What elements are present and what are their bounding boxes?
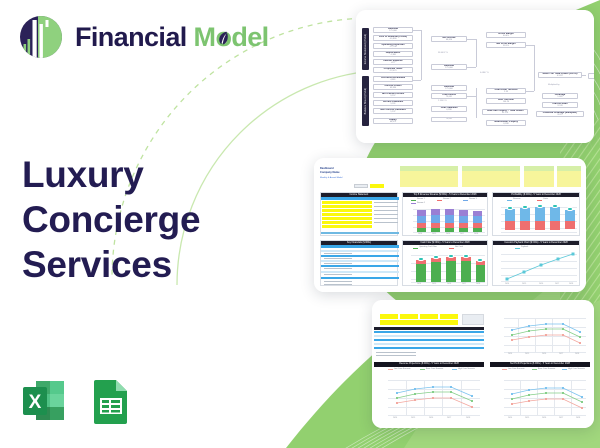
topbox-2-body bbox=[524, 171, 554, 187]
x-tick: 2027 bbox=[462, 283, 466, 285]
x-tick: 2026 bbox=[447, 283, 451, 285]
proj-input-cell bbox=[420, 314, 438, 319]
x-tick: 2028 bbox=[476, 283, 480, 285]
x-tick: 2025 bbox=[432, 283, 436, 285]
is-cell bbox=[322, 221, 372, 224]
legend-label: Stream 2 bbox=[443, 198, 451, 200]
is-cell bbox=[322, 217, 372, 220]
value-badge bbox=[522, 205, 528, 209]
topbox-1-body bbox=[462, 171, 520, 187]
band-income-statement-label: Income Statement (2 Unit) bbox=[365, 34, 367, 65]
legend-swatch bbox=[452, 369, 457, 370]
node-mid-3: Total Assets73,091 bbox=[431, 93, 467, 99]
node-right-3: ROA Turnover104.24 bbox=[486, 98, 526, 104]
topbox-0-body bbox=[400, 171, 458, 187]
legend-swatch bbox=[502, 369, 507, 370]
legend-label: Net Cash bbox=[455, 246, 463, 248]
node-mid-4: Total Liabilities6,338 bbox=[431, 106, 467, 112]
x-tick: 2024 bbox=[508, 417, 512, 419]
svg-text:X: X bbox=[29, 392, 42, 413]
screenshot-card-dashboard[interactable]: Dashboard Company Name Monthly & Annual … bbox=[314, 158, 586, 292]
chart-revenue-projections: 2024 2025 2026 2027 2028 bbox=[374, 374, 484, 424]
node-right-0: Gross Margin64.6% bbox=[486, 32, 526, 38]
topbox-3-body bbox=[557, 171, 581, 187]
x-tick: 2024 bbox=[418, 233, 422, 235]
proj-input-cell bbox=[400, 314, 418, 319]
panel-top5-title: Top 5 Revenue Streams ($ 000s) - 5 Years… bbox=[403, 193, 487, 197]
band-income-statement: Income Statement (2 Unit) bbox=[362, 28, 369, 70]
panel-profitability: Profitability ($ 000s) - 5 Years to Dece… bbox=[492, 192, 580, 236]
legend-swatch bbox=[562, 369, 567, 370]
value-badge bbox=[567, 207, 573, 211]
screenshot-card-projections[interactable]: 2024 2025 2026 2027 2028 Revenue Project… bbox=[372, 300, 594, 428]
brand-name-model-o-wrap: o bbox=[215, 24, 231, 51]
panel-cash-flow-title: Cash Flow ($ 000s) - 5 Years to December… bbox=[403, 241, 487, 245]
legend-label: Stream 4 bbox=[417, 202, 425, 204]
mid-label-0: 38.0637 % bbox=[438, 52, 448, 54]
gross-margin-lines bbox=[504, 316, 588, 354]
node-mid-1: Revenue175,000 bbox=[431, 64, 467, 70]
legend-label: Low Case Scenario bbox=[394, 368, 410, 370]
node-mid-0: Net Income66,614 bbox=[431, 36, 467, 42]
node-is-1: Cost of Revenue (COGS)-61,880 bbox=[373, 35, 413, 41]
is-cell bbox=[322, 205, 372, 208]
node-right-2: Total Asset Turnover2.39 bbox=[486, 88, 526, 94]
x-tick: 2024 bbox=[417, 283, 421, 285]
node-is-2: Operating Expenses-27,748 bbox=[373, 43, 413, 49]
legend-label: Operating Cash Flow bbox=[419, 246, 437, 248]
panel-payback-title: Investors Payback Chart ($ 000s) - 5 Yea… bbox=[493, 241, 579, 245]
node-bs-3: Current Liabilities5,201 bbox=[373, 100, 413, 106]
is-cell bbox=[322, 201, 372, 204]
legend-swatch bbox=[411, 200, 416, 201]
x-tick: 2026 bbox=[429, 417, 433, 419]
value-badge bbox=[448, 254, 454, 258]
chart-gross-margin: 2024 2025 2026 2027 2028 bbox=[490, 310, 590, 358]
legend-swatch bbox=[532, 369, 537, 370]
x-tick: 2025 bbox=[525, 417, 529, 419]
value-badge bbox=[507, 206, 513, 210]
node-bs-4: Non Current Liabilities1,137 bbox=[373, 108, 413, 114]
screenshot-card-dupont-analysis[interactable]: Income Statement (2 Unit) Balance Sheet … bbox=[356, 10, 594, 143]
panel-cash-flow: Cash Flow ($ 000s) - 5 Years to December… bbox=[402, 240, 488, 286]
proj-table-header bbox=[374, 327, 484, 330]
chart-net-profit-title: Net Profit Projections ($ 000s) - 5 Year… bbox=[490, 362, 590, 367]
is-cell bbox=[322, 209, 372, 212]
legend-swatch bbox=[463, 200, 468, 201]
x-tick: 2027 bbox=[559, 417, 563, 419]
legend-label: High Case Scenario bbox=[568, 368, 585, 370]
dupont-flowchart: Income Statement (2 Unit) Balance Sheet … bbox=[356, 10, 594, 143]
node-right-1: Net Profit Margin38.1% bbox=[486, 42, 526, 48]
dashboard-screenshot: Dashboard Company Name Monthly & Annual … bbox=[314, 158, 586, 292]
node-bs-5: Equity66,675 bbox=[373, 118, 413, 124]
legend-label: Costs bbox=[543, 198, 548, 200]
legend-swatch bbox=[449, 248, 454, 249]
node-leverage-2: Financial Leverage (Multiplier)99.12 bbox=[536, 111, 584, 117]
toggle-annual[interactable] bbox=[370, 184, 384, 188]
node-rota: Return on Total Assets (ROTA)0.9117 bbox=[538, 72, 582, 78]
toggle-monthly[interactable] bbox=[354, 184, 368, 188]
x-tick: 2028 bbox=[466, 417, 470, 419]
proj-input-cell bbox=[380, 320, 458, 325]
proj-input-cell bbox=[380, 314, 398, 319]
payback-line bbox=[501, 251, 577, 282]
chart-revenue-proj-title: Revenue Projections ($ 000s) - 5 Years t… bbox=[374, 362, 484, 367]
band-balance-sheet: Balance Sheet (2 Unit) bbox=[362, 76, 369, 126]
chart-net-profit-projections: 2024 2025 2026 2027 2028 bbox=[490, 374, 590, 424]
panel-top5-revenue: Top 5 Revenue Streams ($ 000s) - 5 Years… bbox=[402, 192, 488, 236]
node-leverage-1: Current Ratio12.28 bbox=[542, 102, 578, 108]
panel-investors-payback: Investors Payback Chart ($ 000s) - 5 Yea… bbox=[492, 240, 580, 286]
x-tick: 2025 bbox=[522, 283, 526, 285]
financial-model-circle-chart-logo bbox=[18, 14, 64, 60]
x-tick: 2027 bbox=[460, 233, 464, 235]
value-badge bbox=[463, 254, 469, 258]
legend-label: Low Case Scenario bbox=[508, 368, 524, 370]
kf-col-header bbox=[321, 245, 399, 248]
is-col-header bbox=[321, 197, 399, 200]
brand-name-model-m: M bbox=[194, 22, 216, 52]
brand-name-financial: Financial bbox=[75, 22, 187, 52]
x-tick: 2025 bbox=[411, 417, 415, 419]
title-line-2: Concierge bbox=[22, 197, 272, 242]
is-cell bbox=[322, 225, 372, 228]
legend-swatch bbox=[388, 369, 393, 370]
x-tick: 2026 bbox=[542, 353, 546, 355]
brand-logo[interactable]: Financial Model bbox=[18, 14, 269, 60]
x-tick: 2025 bbox=[432, 233, 436, 235]
google-sheets-file-icon[interactable] bbox=[87, 377, 135, 425]
revenue-proj-lines bbox=[388, 378, 482, 416]
x-tick: 2026 bbox=[446, 233, 450, 235]
x-tick: 2028 bbox=[576, 417, 580, 419]
brand-name-model-del: del bbox=[231, 22, 268, 52]
legend-label: Revenue bbox=[513, 198, 521, 200]
page-title: Luxury Concierge Services bbox=[22, 152, 272, 287]
node-is-5: Corporate Taxes-22,079 bbox=[373, 67, 413, 73]
node-bs-2: Non Current Assets9,197 bbox=[373, 92, 413, 98]
net-profit-lines bbox=[504, 378, 588, 416]
legend-swatch bbox=[507, 200, 512, 201]
legend-swatch bbox=[437, 200, 442, 201]
promo-banner: Financial Model Luxury Concierge Service… bbox=[0, 0, 600, 448]
panel-key-financials: Key Financials ($ 000s) bbox=[320, 240, 398, 286]
x-tick: 2024 bbox=[505, 283, 509, 285]
node-is-3: Depreciation-1,380 bbox=[373, 51, 413, 57]
legend-swatch bbox=[413, 248, 418, 249]
legend-swatch bbox=[420, 369, 425, 370]
projections-screenshot: 2024 2025 2026 2027 2028 Revenue Project… bbox=[372, 300, 594, 428]
node-is-0: Revenue175,000 bbox=[373, 27, 413, 33]
panel-income-statement: Income Statement bbox=[320, 192, 398, 236]
node-right-4: Total Liab / Equity = Total Assets99.176 bbox=[482, 109, 528, 115]
legend-swatch bbox=[515, 248, 520, 249]
node-mid-2: Revenue175,000 bbox=[431, 85, 467, 91]
value-badge bbox=[537, 204, 543, 208]
legend-label: Base Case Scenario bbox=[538, 368, 555, 370]
value-badge bbox=[433, 255, 439, 259]
node-right-5: Shareholder's Equity6,338 bbox=[486, 120, 526, 126]
legend-label: Stream 3 bbox=[469, 198, 477, 200]
dashboard-company: Company Name bbox=[320, 172, 340, 175]
x-tick: 2025 bbox=[525, 353, 529, 355]
x-tick: 2027 bbox=[559, 353, 563, 355]
title-line-3: Services bbox=[22, 242, 272, 287]
value-badge bbox=[552, 204, 558, 208]
legend-label: Stream 1 bbox=[417, 198, 425, 200]
brand-name: Financial Model bbox=[75, 24, 269, 51]
node-bs-1: Current Assets63,894 bbox=[373, 84, 413, 90]
mid-label-1: 2.3943 % bbox=[438, 100, 447, 102]
legend-swatch bbox=[411, 203, 416, 204]
x-tick: 2027 bbox=[447, 417, 451, 419]
node-is-4: Interest Expense-677 bbox=[373, 59, 413, 65]
file-format-icons: X bbox=[20, 377, 135, 425]
node-roe: Return on Equity (ROE) 99.131 bbox=[588, 73, 594, 79]
node-mid-5: 73,091 bbox=[431, 117, 467, 122]
x-tick: 2028 bbox=[569, 283, 573, 285]
x-tick: 2028 bbox=[575, 353, 579, 355]
legend-label: Payback bbox=[521, 246, 528, 248]
x-tick: 2024 bbox=[508, 353, 512, 355]
node-bs-0: Accounts Receivable4,861 bbox=[373, 76, 413, 82]
mid-label-2: 0.0867 % bbox=[480, 72, 489, 74]
title-line-1: Luxury bbox=[22, 152, 272, 197]
value-badge bbox=[477, 258, 483, 262]
legend-swatch bbox=[537, 200, 542, 201]
x-tick: 2028 bbox=[474, 233, 478, 235]
legend-label: High Case Scenario bbox=[458, 368, 475, 370]
x-tick: 2027 bbox=[555, 283, 559, 285]
x-tick: 2026 bbox=[539, 283, 543, 285]
x-tick: 2026 bbox=[542, 417, 546, 419]
proj-input-cell bbox=[440, 314, 458, 319]
band-balance-sheet-label: Balance Sheet (2 Unit) bbox=[365, 88, 367, 114]
dashboard-sublink[interactable]: Monthly & Annual Model bbox=[320, 177, 342, 179]
leaf-icon bbox=[218, 31, 229, 45]
x-tick: 2024 bbox=[393, 417, 397, 419]
proj-summary-cell bbox=[462, 314, 484, 325]
rota-multiplied-label: Multiplied by bbox=[548, 84, 560, 86]
is-cell bbox=[322, 213, 372, 216]
value-badge bbox=[418, 257, 424, 261]
node-leverage-0: Leverage1.095 bbox=[542, 93, 578, 99]
legend-label: Base Case Scenario bbox=[426, 368, 443, 370]
panel-profitability-title: Profitability ($ 000s) - 5 Years to Dece… bbox=[493, 193, 579, 197]
excel-file-icon[interactable]: X bbox=[20, 377, 68, 425]
